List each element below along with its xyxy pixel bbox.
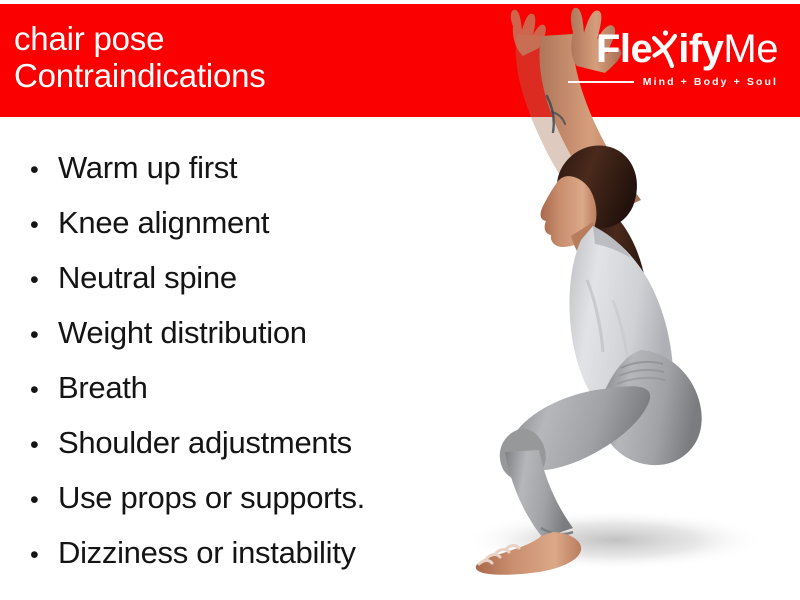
list-item-label: Shoulder adjustments (58, 415, 352, 470)
poster-canvas: chair pose Contraindications Fle ifyMe M… (0, 0, 800, 600)
bullet-dot-icon: • (30, 308, 58, 363)
list-item-label: Breath (58, 360, 148, 415)
list-item-label: Use props or supports. (58, 470, 365, 525)
bullet-dot-icon: • (30, 253, 58, 308)
brand-logo: Fle ifyMe Mind + Body + Soul (568, 22, 778, 88)
list-item: •Neutral spine (30, 250, 480, 305)
list-item-label: Dizziness or instability (58, 525, 356, 580)
logo-wordmark: Fle ifyMe (568, 22, 778, 71)
logo-tagline: Mind + Body + Soul (643, 76, 778, 88)
list-item: •Dizziness or instability (30, 525, 480, 580)
contraindications-list: •Warm up first•Knee alignment•Neutral sp… (30, 140, 480, 580)
bullet-dot-icon: • (30, 363, 58, 418)
list-item: •Warm up first (30, 140, 480, 195)
bullet-dot-icon: • (30, 143, 58, 198)
logo-x-icon (652, 22, 678, 62)
logo-word-part-2: ify (678, 27, 723, 71)
logo-tagline-row: Mind + Body + Soul (568, 76, 778, 88)
page-title: chair pose Contraindications (14, 20, 266, 94)
bullet-dot-icon: • (30, 528, 58, 583)
list-item-label: Warm up first (58, 140, 237, 195)
logo-divider-line (568, 81, 634, 83)
logo-word-part-3: Me (723, 27, 778, 71)
list-item: •Knee alignment (30, 195, 480, 250)
list-item: •Breath (30, 360, 480, 415)
list-item: •Shoulder adjustments (30, 415, 480, 470)
logo-word-part-1: Fle (596, 27, 652, 71)
list-item-label: Knee alignment (58, 195, 269, 250)
bullet-dot-icon: • (30, 198, 58, 253)
list-item: •Weight distribution (30, 305, 480, 360)
bullet-dot-icon: • (30, 418, 58, 473)
list-item-label: Weight distribution (58, 305, 307, 360)
list-item-label: Neutral spine (58, 250, 237, 305)
bullet-dot-icon: • (30, 473, 58, 528)
list-item: •Use props or supports. (30, 470, 480, 525)
